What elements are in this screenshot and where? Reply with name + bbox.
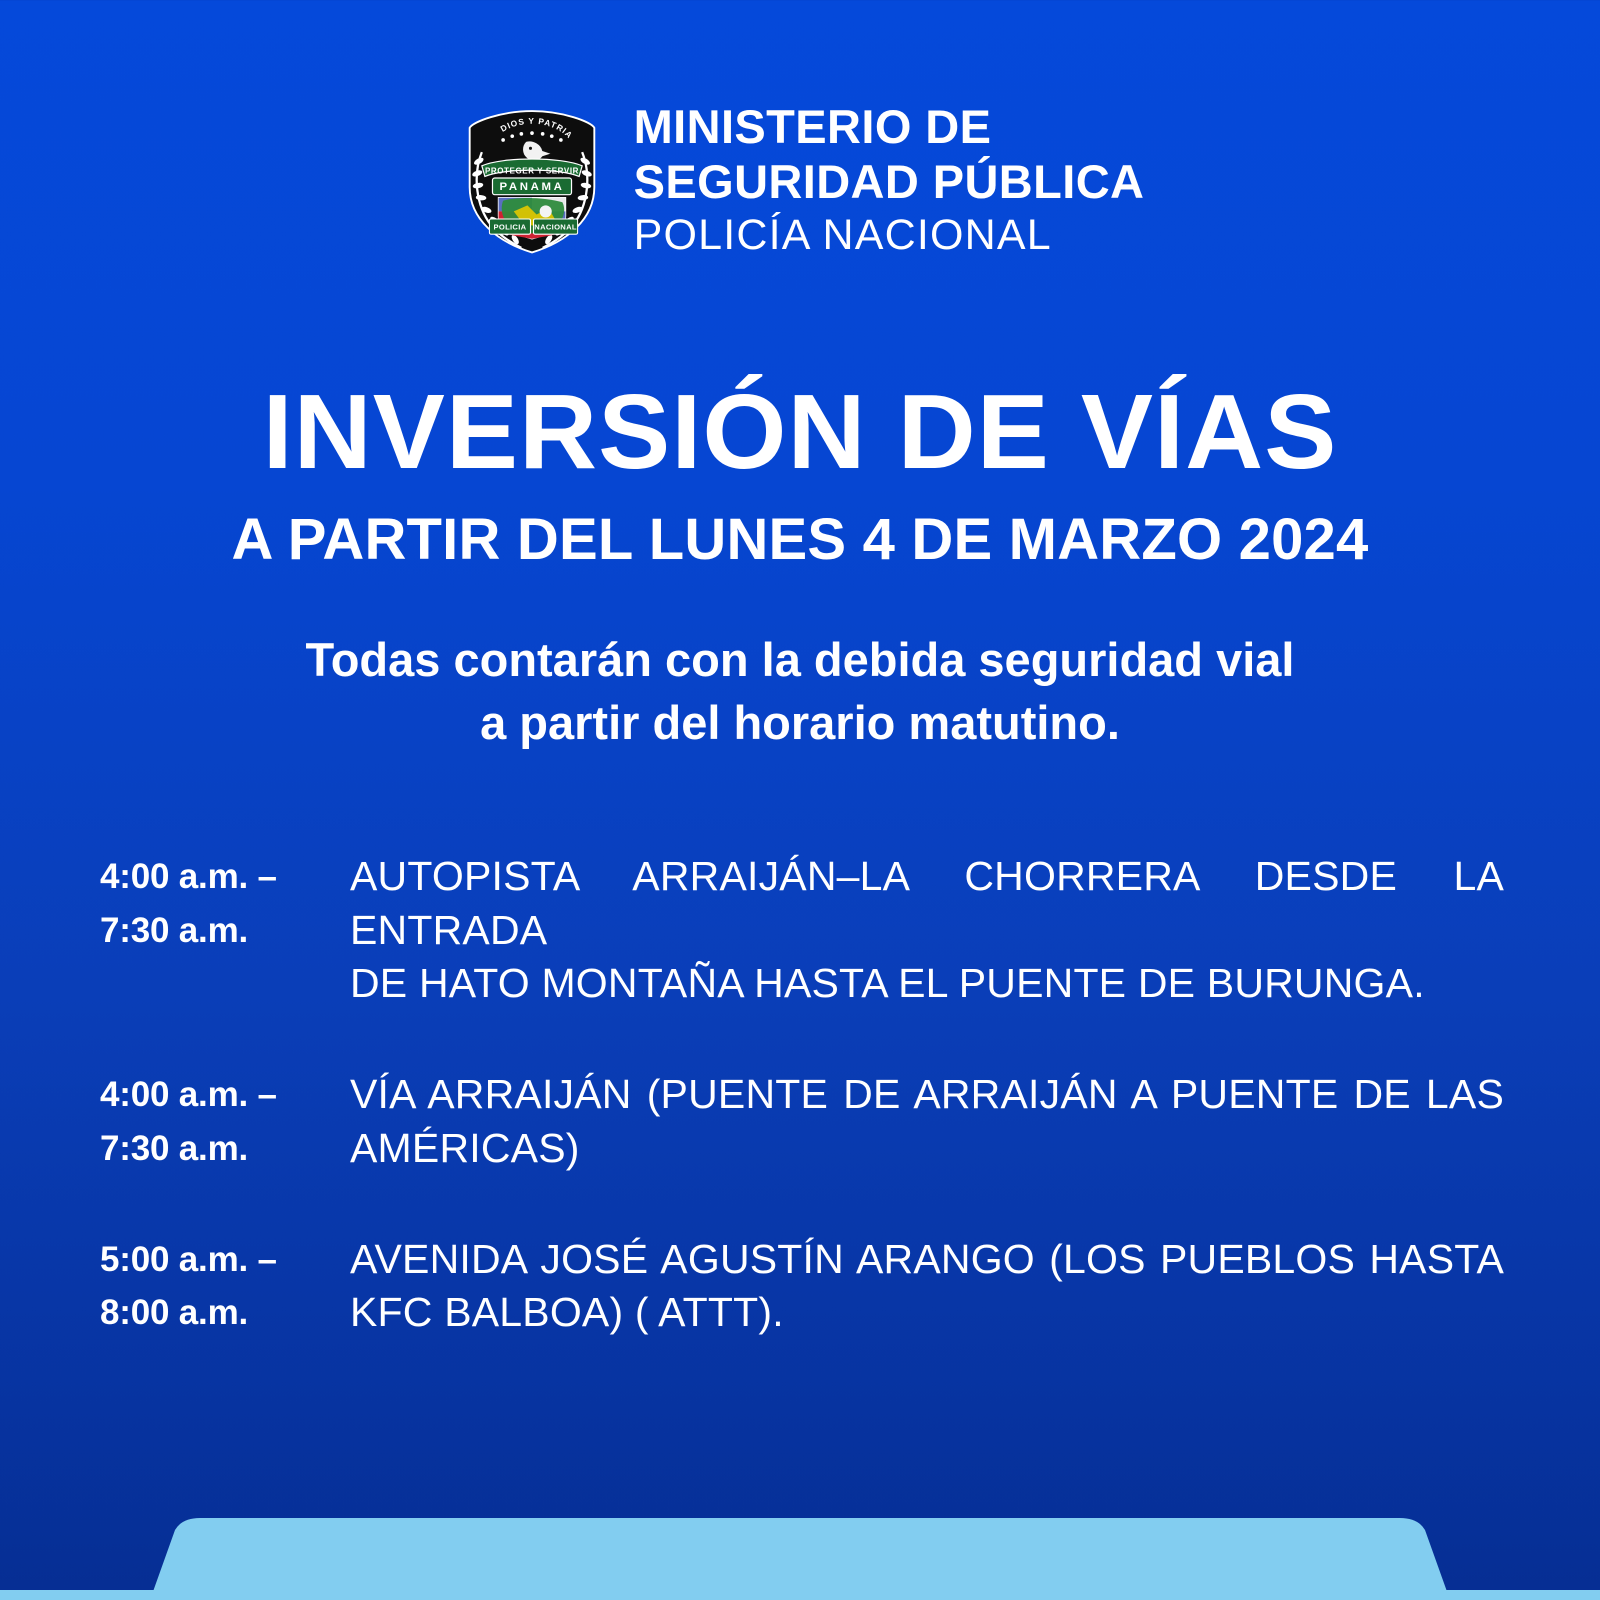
schedule-time: 5:00 a.m. – 8:00 a.m. (100, 1233, 350, 1339)
header-text: MINISTERIO DE SEGURIDAD PÚBLICA POLICÍA … (634, 100, 1145, 261)
time-start: 4:00 a.m. – (100, 850, 350, 903)
title-block: INVERSIÓN DE VÍAS A PARTIR DEL LUNES 4 D… (0, 379, 1600, 569)
time-end: 8:00 a.m. (100, 1286, 350, 1339)
page-subtitle: A PARTIR DEL LUNES 4 DE MARZO 2024 (0, 511, 1600, 569)
description-line-1: VÍA ARRAIJÁN (PUENTE DE ARRAIJÁN A PUENT… (350, 1068, 1504, 1121)
svg-text:PROTEGER Y SERVIR: PROTEGER Y SERVIR (485, 166, 579, 175)
description-line-2: AMÉRICAS) (350, 1122, 1504, 1175)
schedule-description: AUTOPISTA ARRAIJÁN–LA CHORRERA DESDE LA … (350, 850, 1504, 1010)
safety-note-line-1: Todas contarán con la debida seguridad v… (0, 629, 1600, 692)
schedule-entry: 5:00 a.m. – 8:00 a.m. AVENIDA JOSÉ AGUST… (100, 1233, 1504, 1340)
page-title: INVERSIÓN DE VÍAS (0, 379, 1600, 485)
time-start: 4:00 a.m. – (100, 1068, 350, 1121)
bottom-accent-shape (0, 1480, 1600, 1600)
schedule-entry: 4:00 a.m. – 7:30 a.m. AUTOPISTA ARRAIJÁN… (100, 850, 1504, 1010)
schedule-description: VÍA ARRAIJÁN (PUENTE DE ARRAIJÁN A PUENT… (350, 1068, 1504, 1175)
svg-text:NACIONAL: NACIONAL (534, 222, 577, 231)
description-line-1: AVENIDA JOSÉ AGUSTÍN ARANGO (LOS PUEBLOS… (350, 1233, 1504, 1286)
header: DIOS Y PATRIA PROTEGER Y SERVIR PANAMA (0, 0, 1600, 261)
police-line: POLICÍA NACIONAL (634, 209, 1145, 261)
svg-text:POLICIA: POLICIA (493, 222, 526, 231)
safety-note: Todas contarán con la debida seguridad v… (0, 629, 1600, 754)
schedule-time: 4:00 a.m. – 7:30 a.m. (100, 850, 350, 956)
time-end: 7:30 a.m. (100, 904, 350, 957)
description-line-2: DE HATO MONTAÑA HASTA EL PUENTE DE BURUN… (350, 957, 1504, 1010)
description-line-2: KFC BALBOA) ( ATTT). (350, 1286, 1504, 1339)
schedule-entry: 4:00 a.m. – 7:30 a.m. VÍA ARRAIJÁN (PUEN… (100, 1068, 1504, 1175)
time-end: 7:30 a.m. (100, 1122, 350, 1175)
ministry-line-1: MINISTERIO DE (634, 100, 1145, 155)
schedule-time: 4:00 a.m. – 7:30 a.m. (100, 1068, 350, 1174)
safety-note-line-2: a partir del horario matutino. (0, 692, 1600, 755)
schedule-list: 4:00 a.m. – 7:30 a.m. AUTOPISTA ARRAIJÁN… (0, 850, 1600, 1339)
schedule-description: AVENIDA JOSÉ AGUSTÍN ARANGO (LOS PUEBLOS… (350, 1233, 1504, 1340)
description-line-1: AUTOPISTA ARRAIJÁN–LA CHORRERA DESDE LA … (350, 850, 1504, 957)
svg-text:PANAMA: PANAMA (499, 181, 564, 193)
police-shield-badge-icon: DIOS Y PATRIA PROTEGER Y SERVIR PANAMA (456, 105, 608, 257)
time-start: 5:00 a.m. – (100, 1233, 350, 1286)
ministry-line-2: SEGURIDAD PÚBLICA (634, 155, 1145, 210)
